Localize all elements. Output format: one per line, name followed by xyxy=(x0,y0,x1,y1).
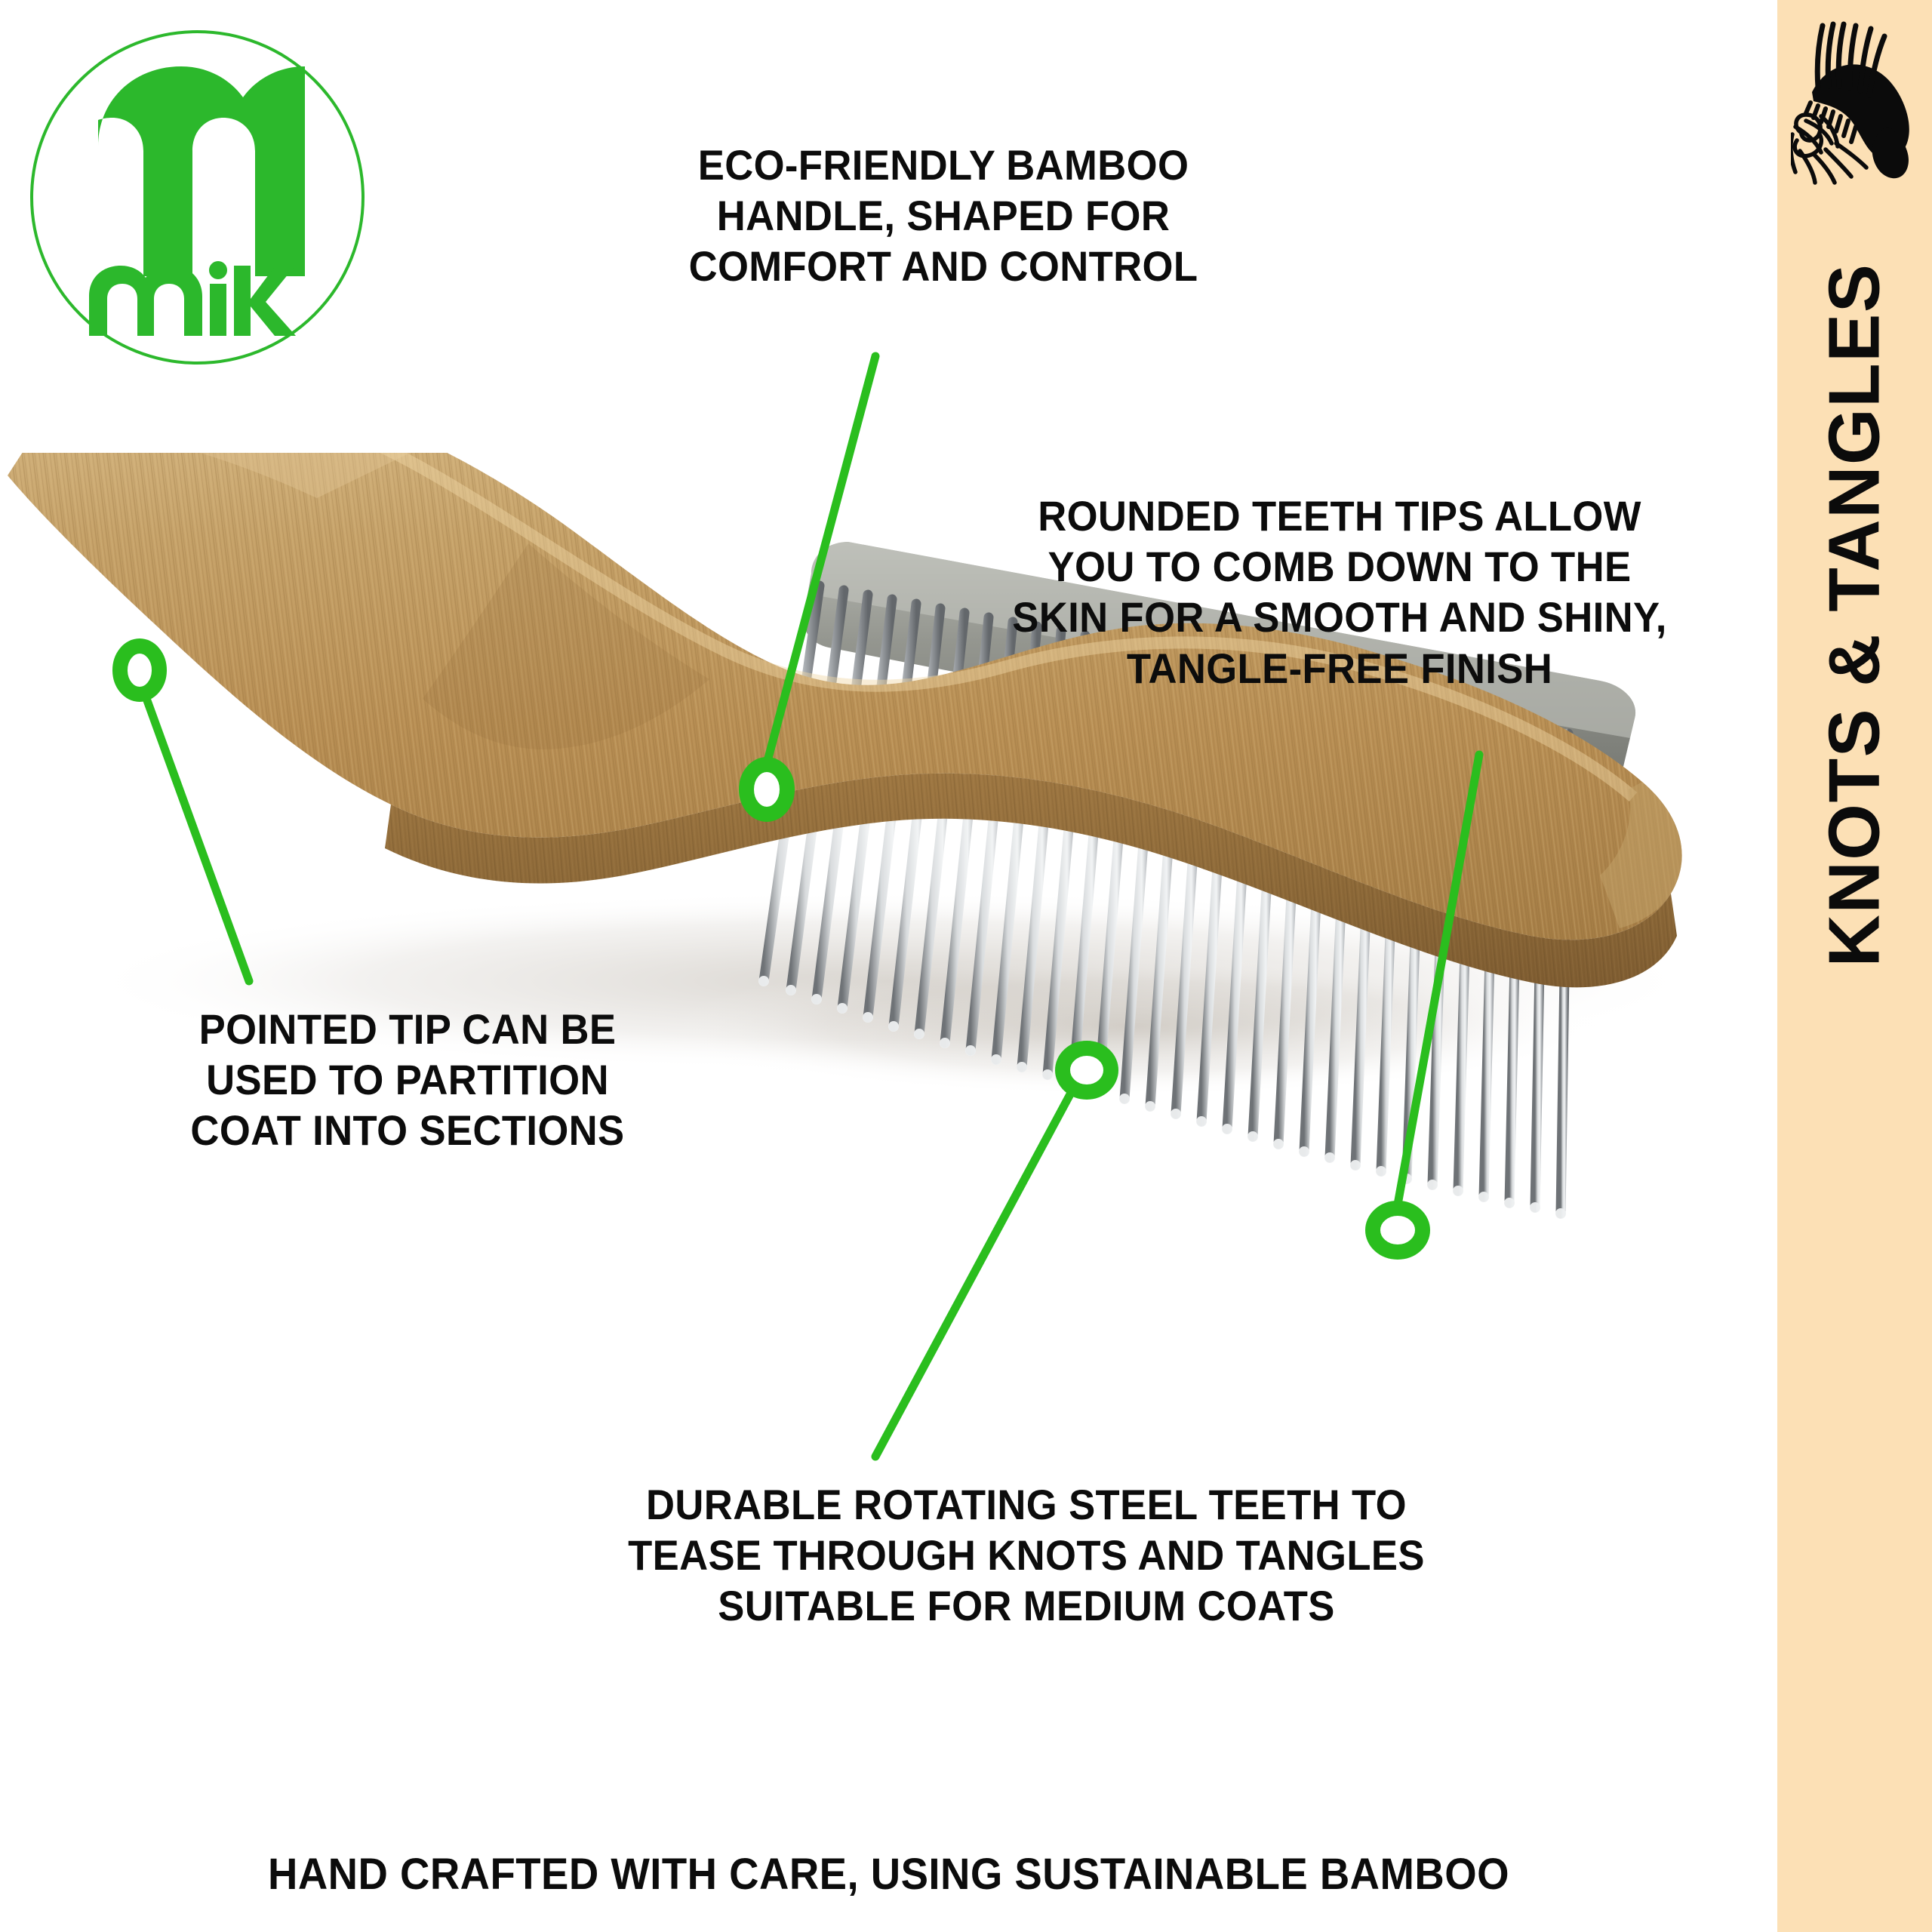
leader-line-handle xyxy=(767,356,875,764)
callout-marker-steel xyxy=(1063,1048,1111,1092)
sidebar-title: KNOTS & TANGLES xyxy=(1777,192,1932,1038)
callout-label-steel-teeth: DURABLE ROTATING STEEL TEETH TO TEASE TH… xyxy=(558,1479,1495,1632)
callout-label-teeth: ROUNDED TEETH TIPS ALLOW YOU TO COMB DOW… xyxy=(981,491,1697,694)
sidebar-panel: KNOTS & TANGLES xyxy=(1777,0,1932,1932)
leader-line-tip xyxy=(145,694,249,981)
callout-label-handle: ECO-FRIENDLY BAMBOO HANDLE, SHAPED FOR C… xyxy=(638,140,1248,292)
callout-marker-handle xyxy=(746,764,787,814)
footer-note: HAND CRAFTED WITH CARE, USING SUSTAINABL… xyxy=(54,1849,1724,1900)
comb-with-tangled-hair-icon xyxy=(1791,14,1919,187)
infographic-page: ECO-FRIENDLY BAMBOO HANDLE, SHAPED FOR C… xyxy=(0,0,1932,1932)
callout-label-pointed-tip: POINTED TIP CAN BE USED TO PARTITION COA… xyxy=(124,1004,691,1156)
callout-marker-tip xyxy=(120,646,159,694)
callout-marker-teeth xyxy=(1373,1208,1423,1252)
leader-line-steel xyxy=(875,1094,1070,1457)
leader-line-teeth xyxy=(1398,755,1479,1204)
sidebar-title-text: KNOTS & TANGLES xyxy=(1814,263,1897,968)
